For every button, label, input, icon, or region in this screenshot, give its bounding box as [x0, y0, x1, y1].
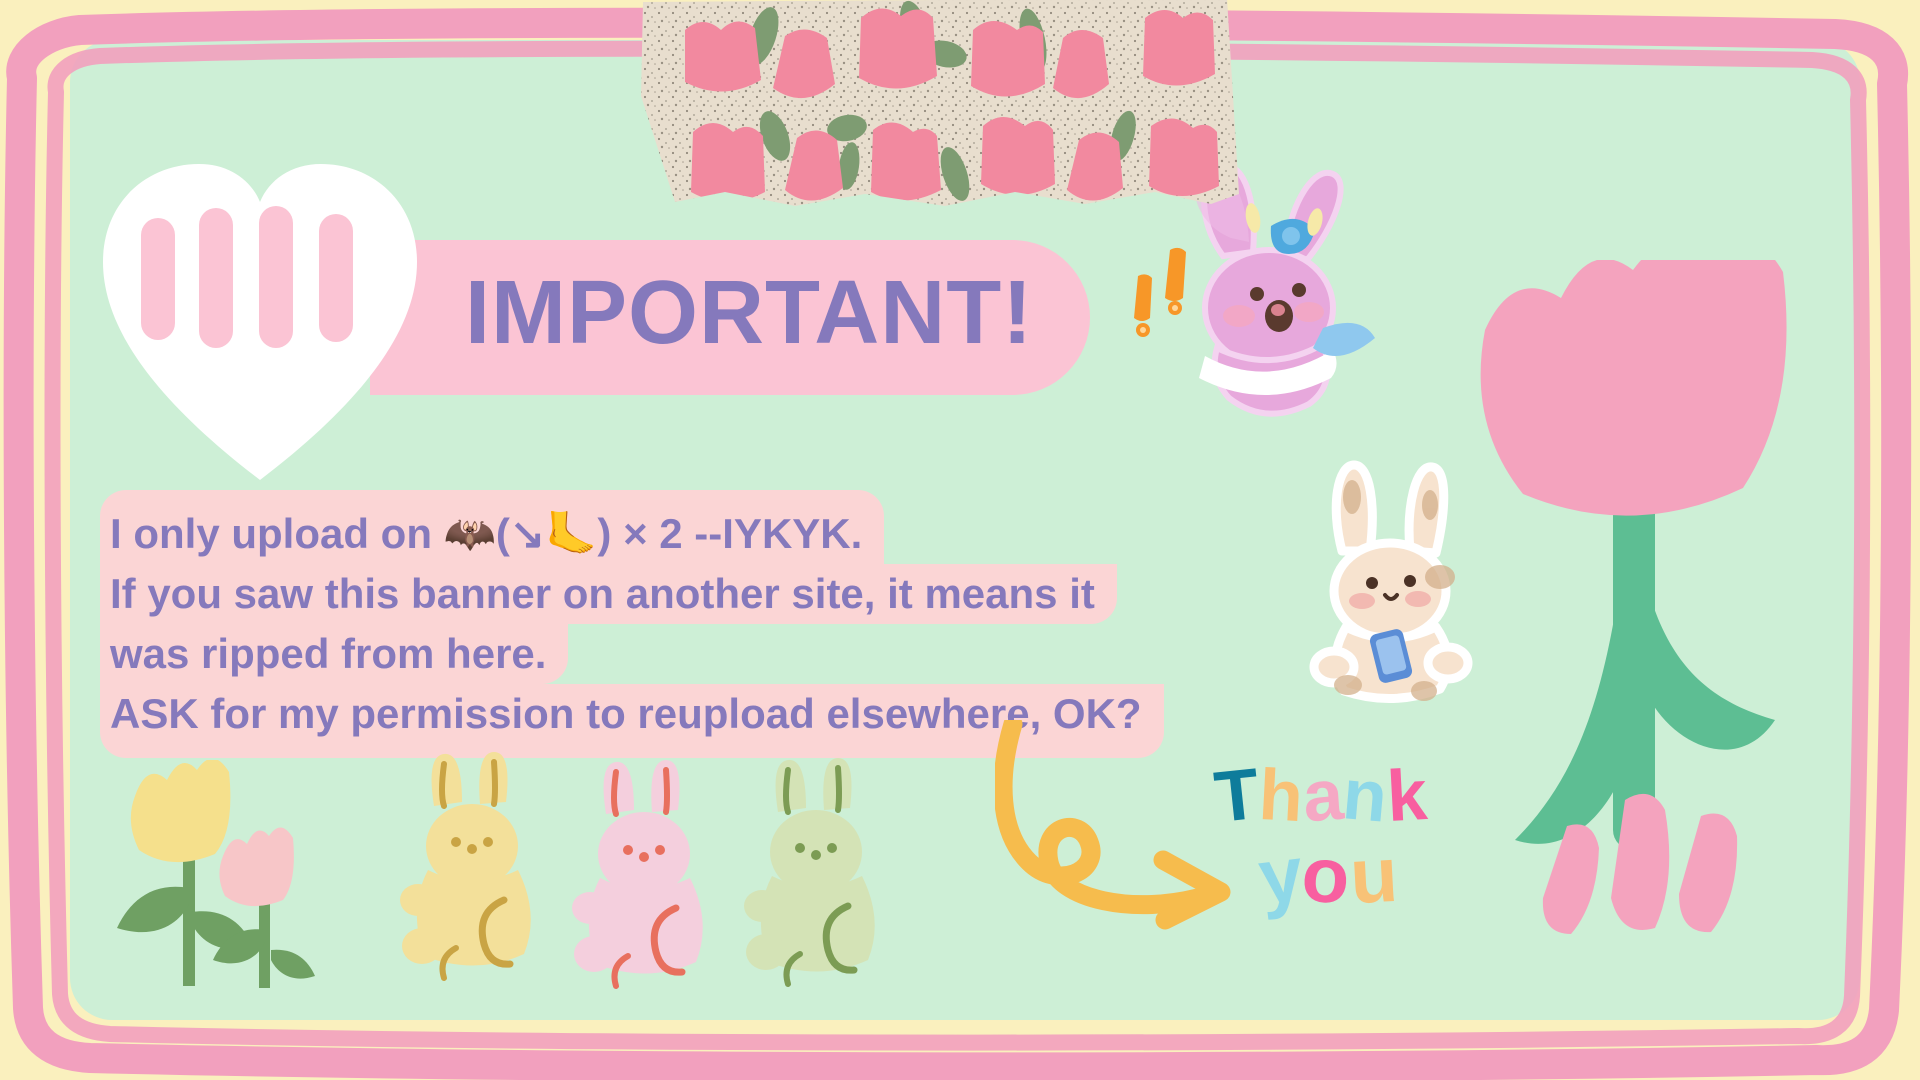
white-heart-with-bangs	[95, 150, 425, 490]
notice-line: I only upload on 🦇(↘🦶) × 2 --IYKYK.	[100, 490, 884, 564]
notice-line: If you saw this banner on another site, …	[100, 564, 1117, 624]
ty-letter-h: h	[1257, 759, 1305, 833]
washi-tape-tulips	[615, 0, 1255, 214]
thank-you-lettering: Thank you	[1215, 760, 1515, 950]
gummy-bunny-yellow	[400, 752, 531, 978]
notice-line: was ripped from here.	[100, 624, 568, 684]
ty-letter-u: u	[1348, 835, 1400, 915]
ty-letter-o: o	[1300, 834, 1353, 915]
ty-letter-n: n	[1340, 758, 1390, 834]
gummy-bunny-green	[744, 758, 875, 984]
ty-letter-k: k	[1385, 759, 1429, 833]
page-title: IMPORTANT!	[465, 262, 1033, 365]
gummy-bunny-pink	[572, 760, 703, 986]
notice-text-block: I only upload on 🦇(↘🦶) × 2 --IYKYK. If y…	[100, 490, 1164, 758]
banner-canvas: IMPORTANT! I only upload on 🦇(↘🦶) × 2 --…	[0, 0, 1920, 1080]
gummy-bunny-row	[400, 750, 960, 990]
small-tulip-pair	[95, 760, 335, 990]
ty-letter-a: a	[1301, 759, 1346, 834]
ty-letter-T: T	[1211, 758, 1262, 834]
